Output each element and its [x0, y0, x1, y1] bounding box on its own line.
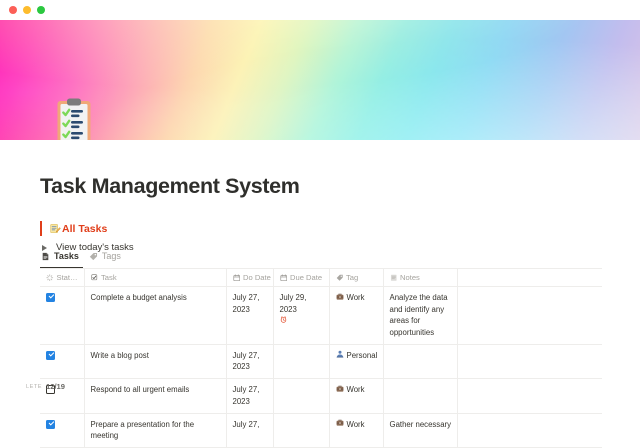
cell-task-title[interactable]: Complete a budget analysis — [84, 287, 226, 345]
cell-status[interactable] — [40, 287, 84, 345]
cell-notes[interactable] — [383, 344, 457, 378]
cell-status[interactable] — [40, 413, 84, 447]
checkbox-checked[interactable] — [46, 351, 55, 360]
cell-notes[interactable]: Analyze the data and identify any areas … — [383, 287, 457, 345]
briefcase-icon — [336, 293, 344, 301]
cell-task-title[interactable]: Respond to all urgent emails — [84, 379, 226, 413]
cell-tag[interactable]: Work — [329, 287, 383, 345]
column-label: Do Date — [243, 273, 271, 282]
briefcase-icon — [336, 385, 344, 393]
tag-icon — [336, 274, 344, 282]
heading-accent-bar — [40, 221, 42, 236]
tag-label: Work — [347, 292, 365, 304]
tag-icon — [89, 252, 98, 261]
footer-label: LETE — [26, 384, 42, 390]
cell-do-date[interactable]: July 27, 2023 — [226, 287, 273, 345]
page-title[interactable]: Task Management System — [40, 174, 300, 199]
minimize-button[interactable] — [23, 6, 31, 14]
overdue-indicator — [280, 316, 324, 323]
column-header-tag[interactable]: Tag — [329, 269, 383, 287]
checkbox-checked[interactable] — [46, 293, 55, 302]
column-header-do-date[interactable]: Do Date — [226, 269, 273, 287]
column-label: Tag — [346, 273, 358, 282]
table-row[interactable]: Complete a budget analysisJuly 27, 2023J… — [40, 287, 602, 345]
tab-tags[interactable]: Tags — [88, 251, 130, 265]
tag-label: Personal — [347, 350, 378, 362]
checkbox-checked[interactable] — [46, 420, 55, 429]
alarm-clock-icon — [280, 316, 287, 323]
column-header-task[interactable]: Task — [84, 269, 226, 287]
window-titlebar — [0, 0, 640, 20]
cell-do-date[interactable]: July 27, 2023 — [226, 379, 273, 413]
cell-blank[interactable] — [457, 287, 602, 345]
column-label: Stat… — [57, 273, 78, 282]
cell-blank[interactable] — [457, 344, 602, 378]
cell-due-date[interactable] — [273, 344, 329, 378]
cell-notes[interactable] — [383, 379, 457, 413]
all-tasks-label: All Tasks — [62, 223, 107, 235]
cell-do-date[interactable]: July 27, — [226, 413, 273, 447]
triangle-right-icon[interactable] — [42, 245, 47, 251]
briefcase-icon — [336, 419, 344, 427]
column-label: Due Date — [290, 273, 322, 282]
cell-tag[interactable]: Work — [329, 413, 383, 447]
calendar-icon — [280, 274, 288, 282]
clipboard-icon[interactable] — [56, 98, 92, 146]
tasks-table: Stat… Task — [40, 268, 602, 448]
table-row[interactable]: Prepare a presentation for the meetingJu… — [40, 413, 602, 447]
close-button[interactable] — [9, 6, 17, 14]
column-header-status[interactable]: Stat… — [40, 269, 84, 287]
cell-due-date[interactable] — [273, 379, 329, 413]
task-edit-icon — [91, 274, 99, 282]
column-header-notes[interactable]: Notes — [383, 269, 457, 287]
cell-status[interactable] — [40, 344, 84, 378]
tag-label: Work — [347, 384, 365, 396]
cover-gradient-overlay — [0, 20, 640, 140]
tab-label: Tags — [102, 251, 121, 261]
maximize-button[interactable] — [37, 6, 45, 14]
tab-tasks[interactable]: Tasks — [40, 251, 88, 265]
column-header-add-property[interactable] — [457, 269, 602, 287]
person-icon — [336, 350, 344, 358]
note-icon — [41, 252, 50, 261]
tag-label: Work — [347, 419, 365, 431]
cell-tag[interactable]: Work — [329, 379, 383, 413]
table-row[interactable]: Write a blog postJuly 27, 2023Personal — [40, 344, 602, 378]
cell-blank[interactable] — [457, 413, 602, 447]
due-date-text: July 29, 2023 — [280, 292, 324, 315]
text-icon — [390, 274, 398, 282]
column-label: Notes — [400, 273, 420, 282]
cell-do-date[interactable]: July 27, 2023 — [226, 344, 273, 378]
table-row[interactable]: Respond to all urgent emailsJuly 27, 202… — [40, 379, 602, 413]
page-cover-image[interactable] — [0, 20, 640, 140]
cell-task-title[interactable]: Prepare a presentation for the meeting — [84, 413, 226, 447]
all-tasks-heading[interactable]: All Tasks — [40, 221, 107, 236]
cell-due-date[interactable]: July 29, 2023 — [273, 287, 329, 345]
cell-due-date[interactable] — [273, 413, 329, 447]
cell-task-title[interactable]: Write a blog post — [84, 344, 226, 378]
table-header-row: Stat… Task — [40, 269, 602, 287]
footer-count: 12/19 — [46, 382, 65, 391]
column-label: Task — [101, 273, 117, 282]
column-header-due-date[interactable]: Due Date — [273, 269, 329, 287]
loading-icon — [46, 274, 54, 282]
table-footer-summary: LETE 12/19 — [26, 382, 65, 391]
cell-blank[interactable] — [457, 379, 602, 413]
calendar-icon — [233, 274, 241, 282]
memo-icon — [50, 223, 61, 234]
cell-tag[interactable]: Personal — [329, 344, 383, 378]
tab-label: Tasks — [54, 251, 79, 261]
database-view-tabs: Tasks Tags — [40, 251, 130, 265]
cell-notes[interactable]: Gather necessary — [383, 413, 457, 447]
